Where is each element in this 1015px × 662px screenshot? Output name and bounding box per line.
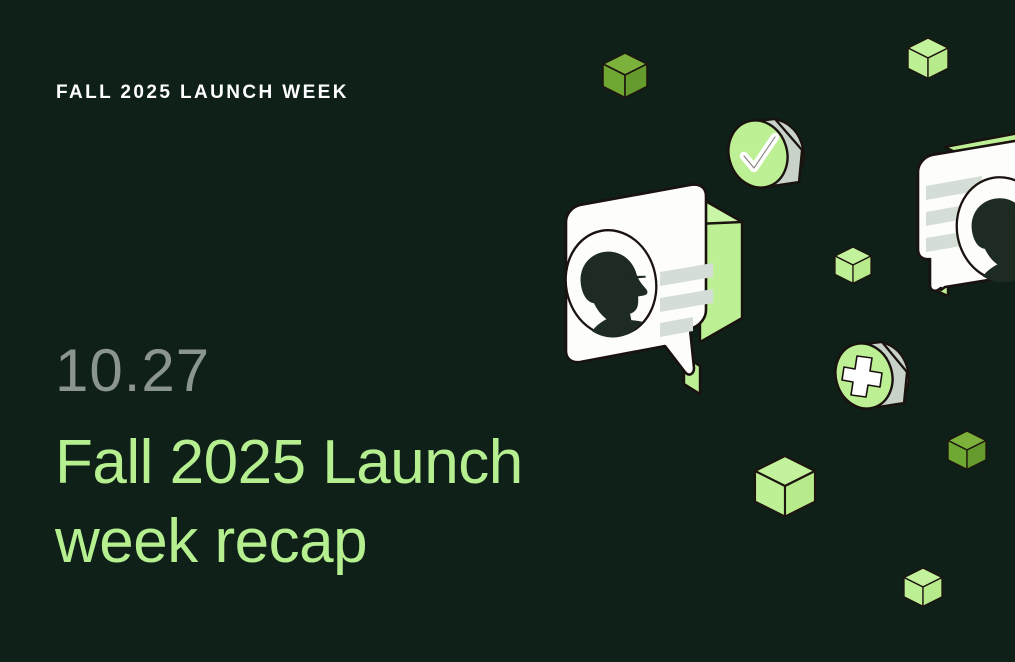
cube-6 [904,568,942,606]
page-title-line-1: Fall 2025 Launch [55,424,523,503]
cube-3 [835,247,871,283]
cube-5 [948,431,986,469]
chat-text-lines [926,176,982,252]
chat-text-lines [660,263,713,337]
speech-bubble-secondary [918,131,1015,296]
hero-copy: FALL 2025 LAUNCH WEEK 10.27 Fall 2025 La… [0,0,620,662]
hero-banner: FALL 2025 LAUNCH WEEK 10.27 Fall 2025 La… [0,0,1015,662]
page-title: Fall 2025 Launch week recap [55,424,523,581]
page-title-line-2: week recap [55,503,523,582]
cube-4 [755,456,815,517]
plus-badge-icon [827,336,916,417]
eyebrow-label: FALL 2025 LAUNCH WEEK [56,82,349,104]
cube-2 [908,38,948,78]
check-badge-icon [720,112,812,195]
event-date: 10.27 [55,341,210,401]
